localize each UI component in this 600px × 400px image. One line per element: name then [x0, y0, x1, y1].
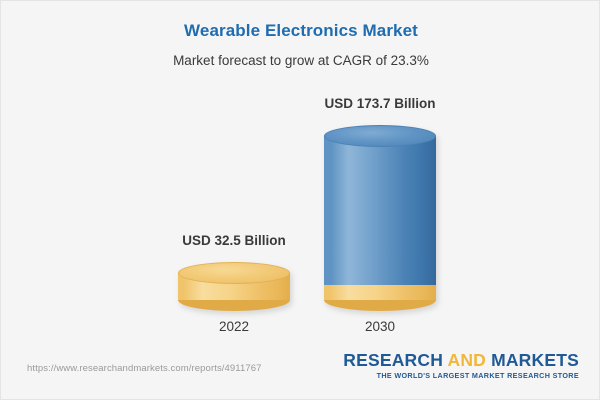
brand-wordmark: RESEARCH AND MARKETS [343, 351, 579, 369]
chart-canvas: Wearable Electronics Market Market forec… [0, 0, 600, 400]
cylinder-top-ellipse [178, 262, 290, 284]
brand-word-markets: MARKETS [491, 350, 579, 370]
cylinder-2030[interactable] [324, 125, 436, 311]
segment-2030-value [324, 125, 436, 285]
footer: https://www.researchandmarkets.com/repor… [1, 339, 600, 399]
value-label-2022: USD 32.5 Billion [178, 233, 290, 248]
cylinder-top-ellipse [324, 125, 436, 147]
brand-word-and: AND [447, 350, 486, 370]
category-label-2022: 2022 [178, 319, 290, 334]
bar-group-2030: USD 173.7 Billion 2030 [324, 1, 436, 341]
bar-group-2022: USD 32.5 Billion 2022 [178, 1, 290, 341]
plot-area: USD 32.5 Billion 2022 USD 173.7 Billion [1, 1, 600, 341]
segment-2022-value [178, 262, 290, 311]
category-label-2030: 2030 [324, 319, 436, 334]
value-label-2030: USD 173.7 Billion [324, 96, 436, 111]
brand-tagline: THE WORLD'S LARGEST MARKET RESEARCH STOR… [343, 371, 579, 380]
brand-word-research: RESEARCH [343, 350, 443, 370]
cylinder-body [324, 136, 436, 285]
brand-logo[interactable]: RESEARCH AND MARKETS THE WORLD'S LARGEST… [343, 351, 579, 380]
cylinder-2022[interactable] [178, 262, 290, 311]
report-url[interactable]: https://www.researchandmarkets.com/repor… [27, 363, 262, 374]
